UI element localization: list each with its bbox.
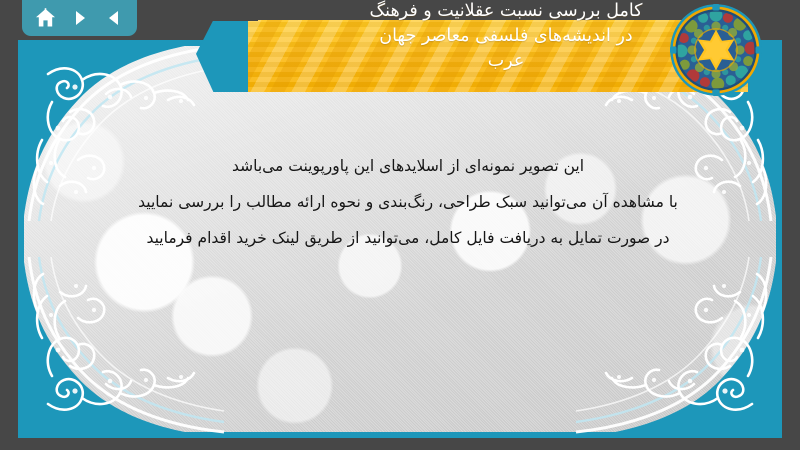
left-triangle-icon bbox=[105, 9, 123, 27]
body-line-2: با مشاهده آن می‌توانید سبک طراحی، رنگ‌بن… bbox=[58, 184, 758, 220]
slide-canvas: این تصویر نمونه‌ای از اسلایدهای این پاور… bbox=[18, 40, 782, 438]
prev-slide-button[interactable] bbox=[100, 4, 128, 32]
body-line-3: در صورت تمایل به دریافت فایل کامل، می‌تو… bbox=[58, 220, 758, 256]
slide-body-text: این تصویر نمونه‌ای از اسلایدهای این پاور… bbox=[58, 148, 758, 256]
title-banner: کامل بررسی نسبت عقلانیت و فرهنگ در اندیش… bbox=[196, 0, 800, 98]
home-button[interactable] bbox=[31, 4, 59, 32]
slide-viewer: این تصویر نمونه‌ای از اسلایدهای این پاور… bbox=[0, 0, 800, 450]
body-line-1: این تصویر نمونه‌ای از اسلایدهای این پاور… bbox=[58, 148, 758, 184]
slide-navigation-bar[interactable] bbox=[22, 0, 137, 36]
banner-chevron-notch bbox=[196, 0, 258, 21]
home-icon bbox=[35, 8, 56, 28]
right-triangle-icon bbox=[71, 9, 89, 27]
next-slide-button[interactable] bbox=[66, 4, 94, 32]
persian-medallion-icon bbox=[670, 4, 762, 96]
